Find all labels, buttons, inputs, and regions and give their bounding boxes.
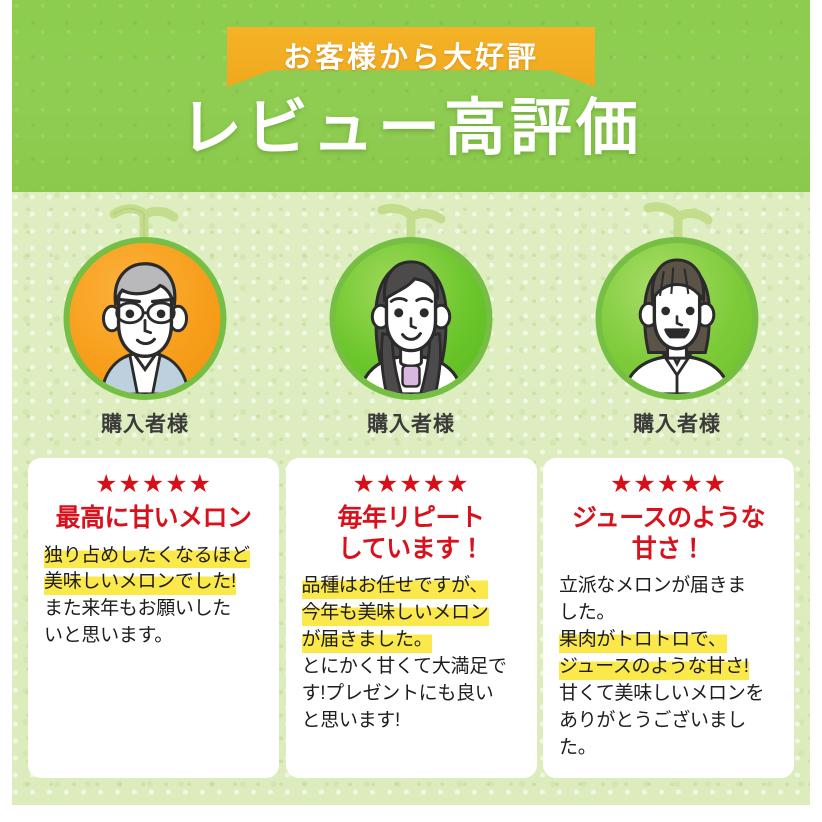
star-rating: ★★★★★ [559, 472, 778, 497]
review-line: 立派なメロンが届きま [559, 573, 746, 600]
ribbon-banner: お客様から大好評 [227, 27, 595, 87]
ribbon-label: お客様から大好評 [227, 27, 595, 87]
review-body: 立派なメロンが届きま した。 果肉がトロトロで、 ジュースのような甘さ! 甘くて… [559, 573, 778, 762]
bottom-margin [0, 805, 822, 822]
review-line: が届きました。 [302, 627, 433, 654]
avatar-disc [330, 237, 493, 400]
avatar-item: 購入者様 [25, 200, 265, 438]
melon-frame [595, 200, 760, 400]
review-banner: お客様から大好評 レビュー高評価 [0, 0, 822, 822]
page-title: レビュー高評価 [12, 98, 810, 160]
avatar-label: 購入者様 [633, 408, 721, 438]
review-card: ★★★★★ ジュースのような 甘さ！ 立派なメロンが届きま した。 果肉がトロト… [543, 458, 794, 778]
left-margin [0, 0, 12, 822]
melon-frame [63, 200, 228, 400]
header-band: お客様から大好評 レビュー高評価 [12, 0, 810, 192]
portrait-woman-bob-icon [602, 243, 753, 394]
review-line: 果肉がトロトロで、 [559, 627, 727, 654]
review-line: す!プレゼントにも良い [302, 681, 494, 708]
right-margin [810, 0, 822, 822]
avatar-disc [596, 237, 759, 400]
avatar-disc [64, 237, 227, 400]
review-card: ★★★★★ 最高に甘いメロン 独り占めしたくなるほど 美味しいメロンでした! ま… [28, 458, 279, 778]
review-title: ジュースのような 甘さ！ [559, 503, 778, 564]
review-line: 独り占めしたくなるほど [44, 543, 250, 570]
star-rating: ★★★★★ [302, 472, 521, 497]
review-line: また来年もお願いした [44, 596, 231, 623]
review-title: 毎年リピート しています！ [302, 503, 521, 564]
avatar-item: 購入者様 [291, 200, 531, 438]
review-line: 甘くて美味しいメロンを [559, 681, 764, 708]
melon-frame [329, 200, 494, 400]
review-line: と思います! [302, 708, 400, 735]
portrait-woman-long-hair-icon [336, 243, 487, 394]
review-cards: ★★★★★ 最高に甘いメロン 独り占めしたくなるほど 美味しいメロンでした! ま… [12, 458, 810, 778]
review-body: 独り占めしたくなるほど 美味しいメロンでした! また来年もお願いした いと思いま… [44, 543, 263, 651]
review-line: ジュースのような甘さ! [559, 654, 749, 681]
review-line: 品種はお任せですが、 [302, 573, 489, 600]
avatar-label: 購入者様 [367, 408, 455, 438]
review-line: いと思います。 [44, 623, 173, 650]
review-line: 美味しいメロンでした! [44, 569, 236, 596]
avatar-label: 購入者様 [101, 408, 189, 438]
avatar-row: 購入者様 [12, 200, 810, 445]
review-line: ありがとうございました。 [559, 708, 778, 762]
review-card: ★★★★★ 毎年リピート しています！ 品種はお任せですが、 今年も美味しいメロ… [286, 458, 537, 778]
review-body: 品種はお任せですが、 今年も美味しいメロン が届きました。 とにかく甘くて大満足… [302, 573, 521, 735]
star-rating: ★★★★★ [44, 472, 263, 497]
portrait-elderly-man-icon [70, 243, 221, 394]
review-title: 最高に甘いメロン [44, 503, 263, 534]
review-line: とにかく甘くて大満足で [302, 654, 507, 681]
avatar-item: 購入者様 [557, 200, 797, 438]
review-line: 今年も美味しいメロン [302, 600, 489, 627]
review-line: した。 [559, 600, 615, 627]
